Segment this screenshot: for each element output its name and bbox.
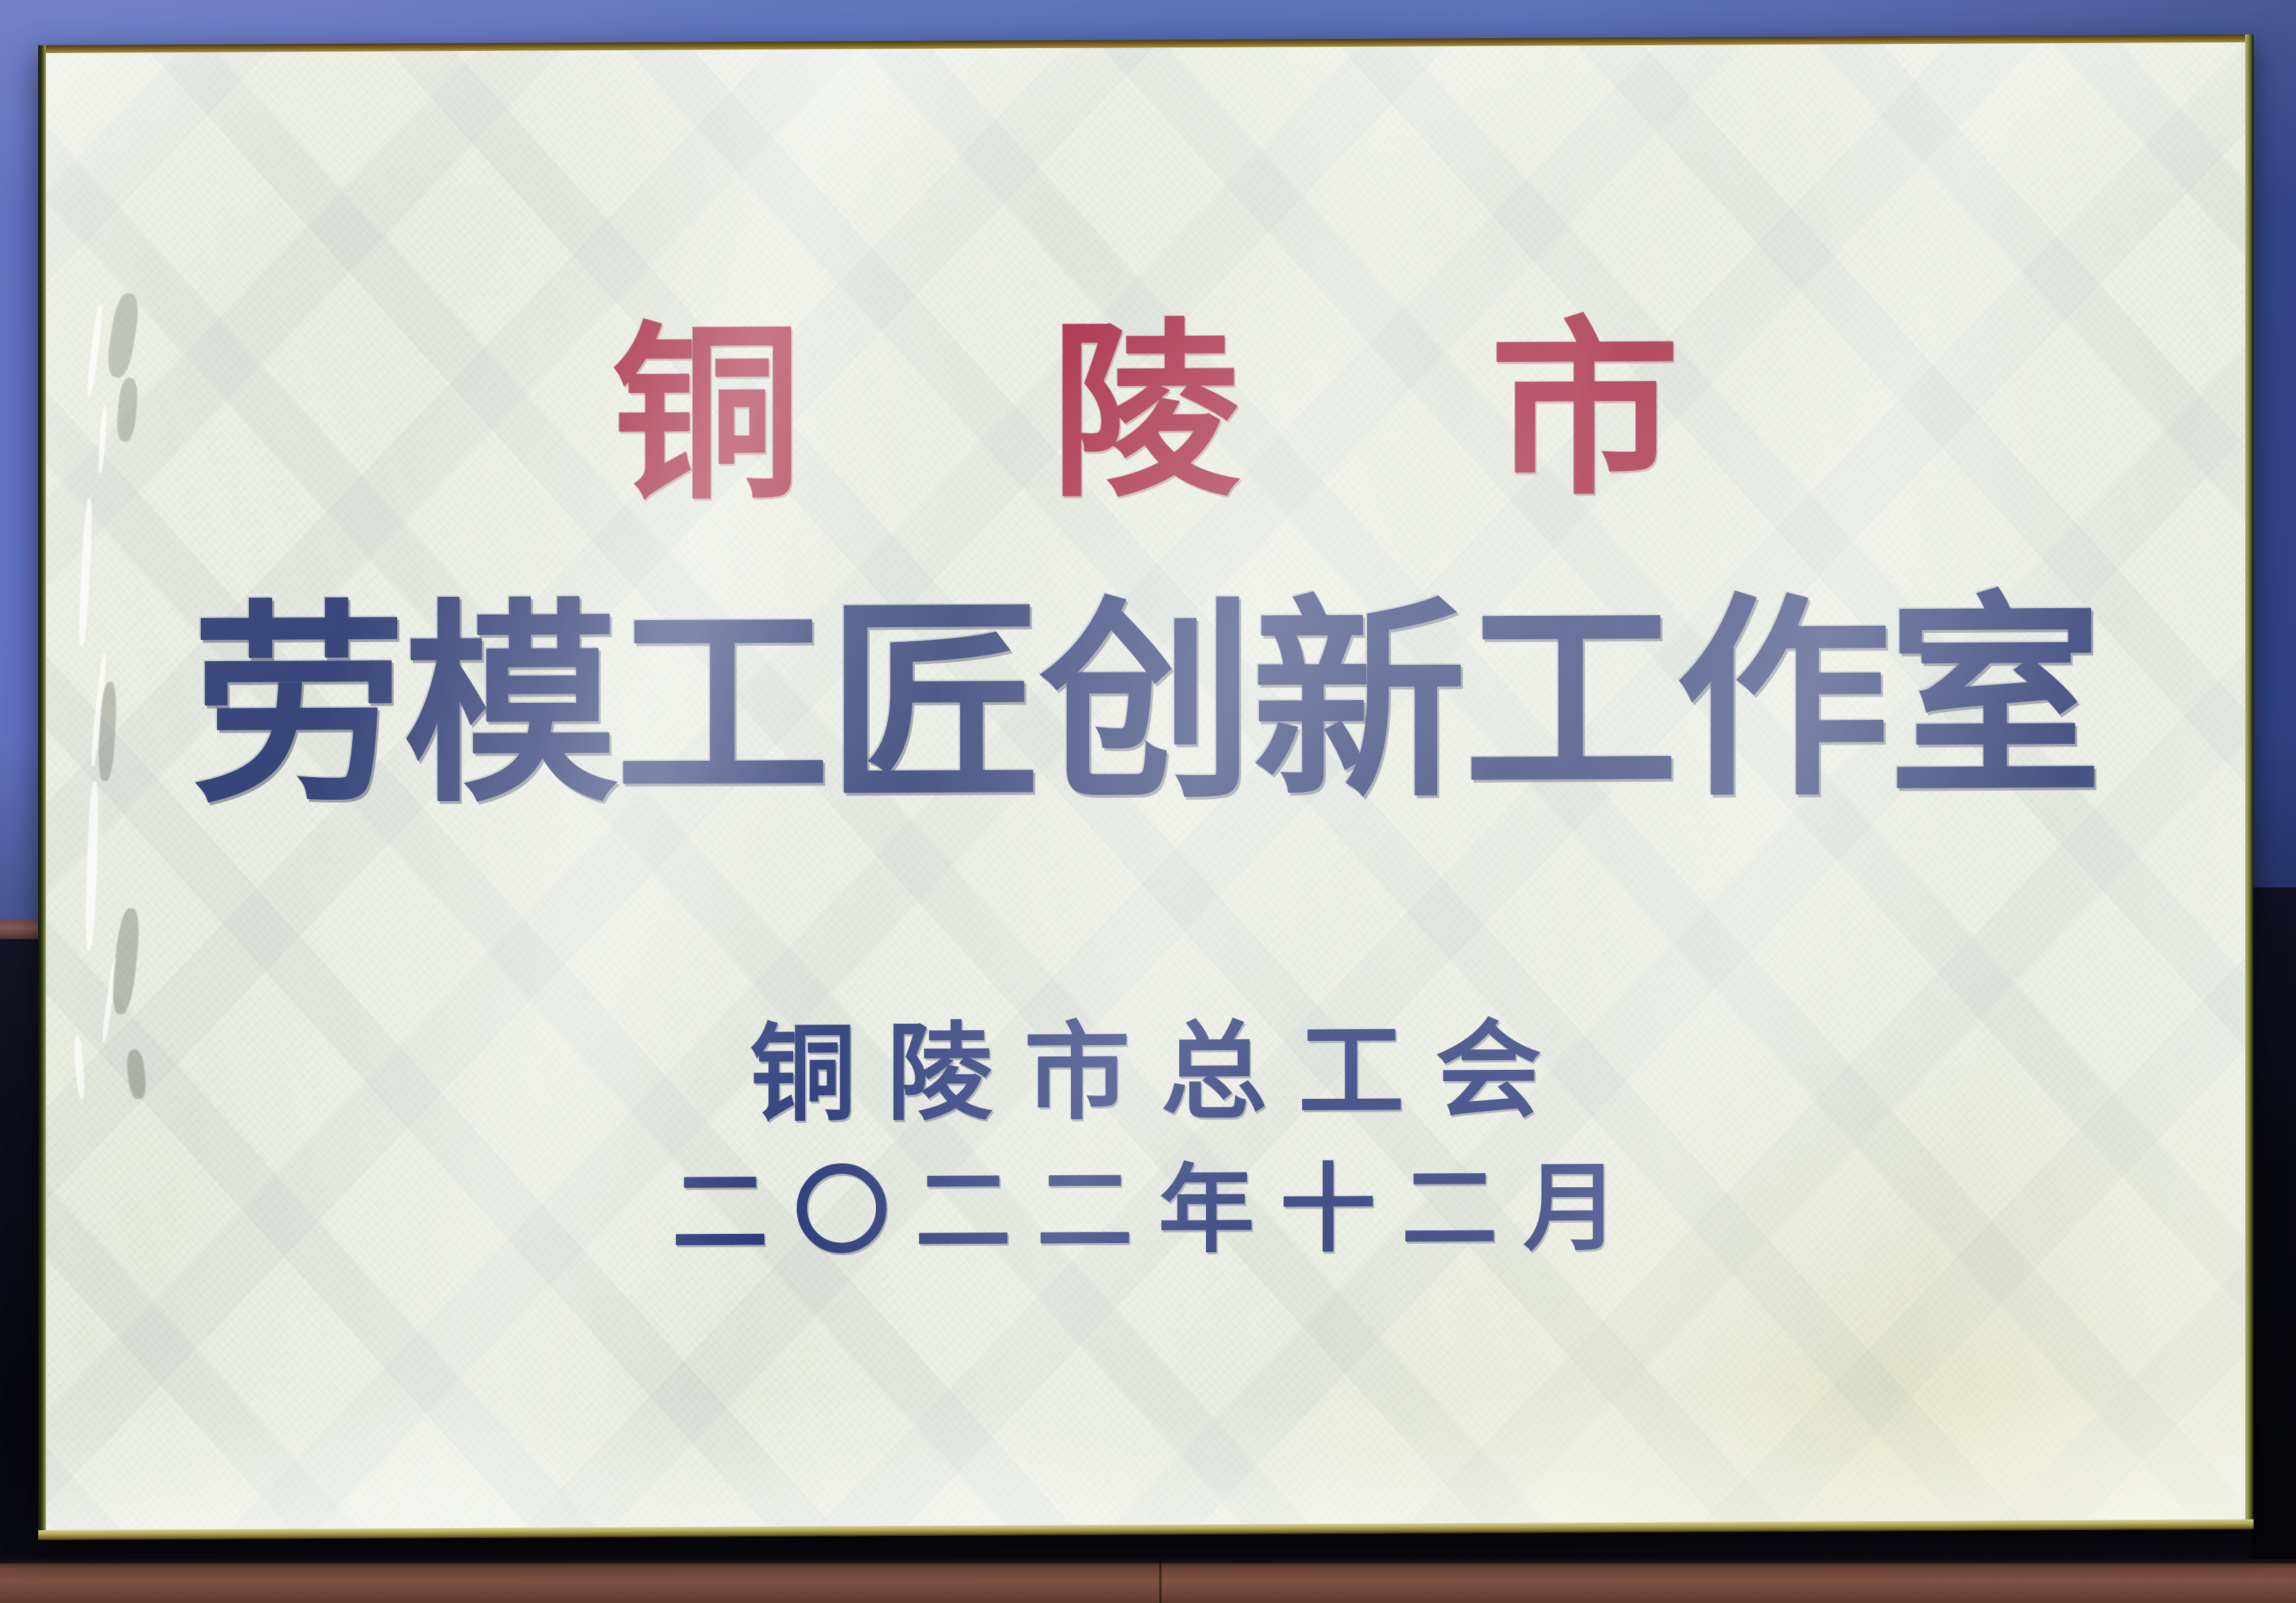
plaque-frame-left-edge [38, 45, 46, 1540]
plaque-frame-right-edge [2245, 35, 2254, 1529]
plaque-date-line: 二〇二二年十二月 [647, 1160, 1645, 1261]
scene: 铜 陵 市 劳模工匠创新工作室 铜陵市总工会 二〇二二年十二月 [0, 0, 2296, 1603]
plaque-text-stack: 铜 陵 市 劳模工匠创新工作室 铜陵市总工会 二〇二二年十二月 [46, 42, 2245, 1530]
plaque-issuer-line: 铜陵市总工会 [718, 1017, 1572, 1127]
plaque-scuff-marks [50, 286, 184, 1107]
plaque-face: 铜 陵 市 劳模工匠创新工作室 铜陵市总工会 二〇二二年十二月 [46, 42, 2245, 1530]
floor-seam [1159, 1559, 1161, 1603]
plaque-warm-reflection [881, 810, 2245, 1526]
wall-right-dark [2252, 887, 2296, 1602]
award-plaque: 铜 陵 市 劳模工匠创新工作室 铜陵市总工会 二〇二二年十二月 [38, 35, 2254, 1540]
plaque-title-line: 劳模工匠创新工作室 [192, 590, 2100, 815]
plaque-city-line: 铜 陵 市 [520, 315, 1771, 511]
floor-surface [0, 1559, 2296, 1603]
plaque-glare-overlay [46, 42, 2245, 1530]
